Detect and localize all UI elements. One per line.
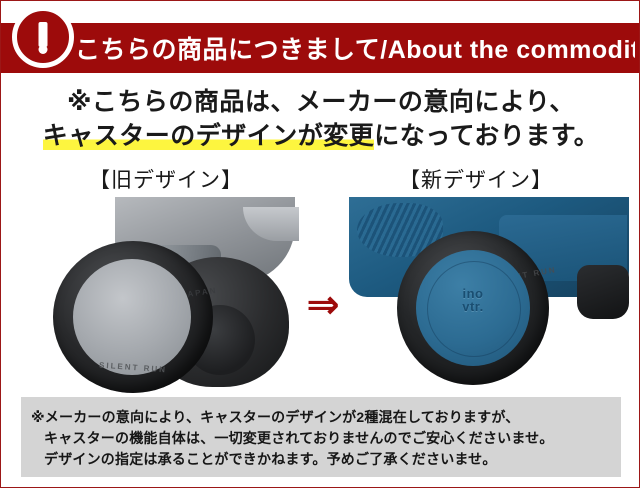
secondary-caster-black (577, 265, 629, 319)
exclamation-stem (39, 22, 48, 47)
disclaimer-box: ※メーカーの意向により、キャスターのデザインが2種混在しておりますが、 キャスタ… (21, 397, 621, 477)
lead-line-2: キャスターのデザインが変更になっております。 (1, 119, 640, 153)
exclamation-circle-icon (12, 6, 74, 68)
exclamation-dot (39, 45, 48, 54)
comparison-captions: 【旧デザイン】 【新デザイン】 (1, 164, 640, 194)
lead-highlight: キャスターのデザインが変更 (43, 122, 375, 150)
notice-page: こちらの商品につきまして/About the commodity ※こちらの商品… (0, 0, 640, 488)
inovtr-brand-mark: ino vtr. (442, 287, 504, 313)
old-design-photo: SILENT RUN JAPAN SILENT RUN (19, 197, 299, 393)
right-arrow-icon: ⇒ (299, 283, 347, 327)
lead-line-2-rest: になっております。 (374, 122, 599, 150)
brand-line-2: vtr. (442, 300, 504, 313)
caption-old-design: 【旧デザイン】 (21, 164, 311, 194)
new-design-photo: SILENT RUN ino vtr. (349, 197, 629, 393)
caption-new-design: 【新デザイン】 (331, 164, 621, 194)
lead-line-1: ※こちらの商品は、メーカーの意向により、 (1, 85, 640, 119)
disclaimer-line-1: ※メーカーの意向により、キャスターのデザインが2種混在しておりますが、 (31, 407, 621, 428)
header-title: こちらの商品につきまして/About the commodity (75, 23, 635, 73)
old-wheel-hub-face (73, 259, 191, 375)
lead-text: ※こちらの商品は、メーカーの意向により、 キャスターのデザインが変更になっており… (1, 85, 640, 153)
disclaimer-line-2: キャスターの機能自体は、一切変更されておりませんのでご安心くださいませ。 (31, 428, 621, 449)
disclaimer-line-3: デザインの指定は承ることができかねます。予めご了承くださいませ。 (31, 449, 621, 470)
